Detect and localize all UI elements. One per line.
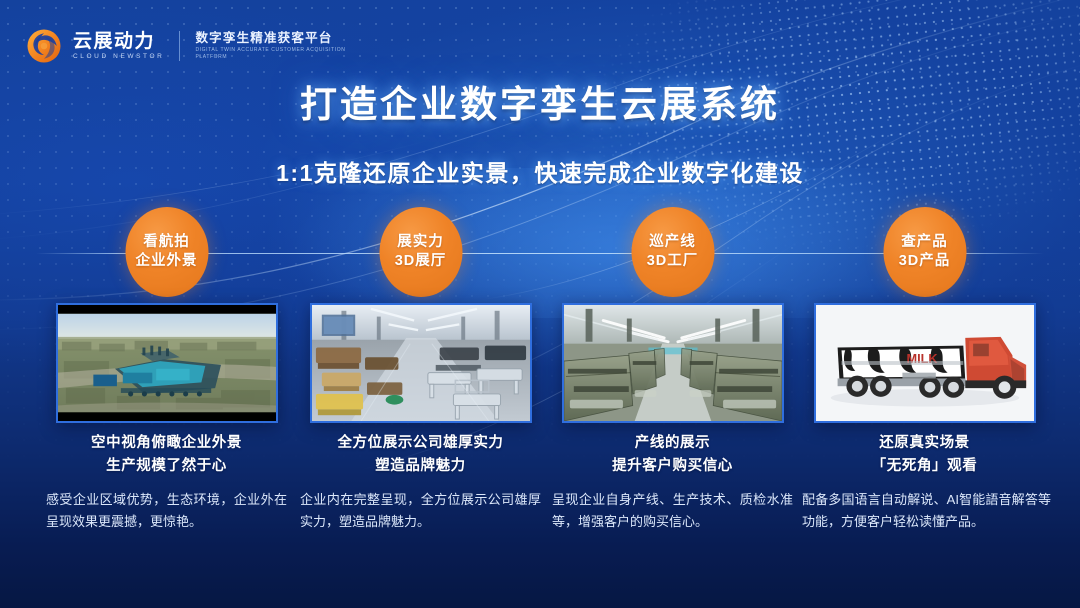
- tagline-en-line1: DIGITAL TWIN ACCURATE CUSTOMER ACQUISITI…: [195, 48, 345, 53]
- production-line-image: [564, 305, 782, 421]
- badge-line-2: 3D工厂: [647, 254, 699, 269]
- aerial-factory-image: [58, 305, 276, 421]
- brand-wordmark: 云展动力 CLOUD NEWSTOR: [73, 32, 164, 61]
- headline-line-1: 全方位展示公司雄厚实力: [294, 432, 547, 455]
- column-body-production-line: 呈现企业自身产线、生产技术、质检水准等，增强客户的购买信心。: [552, 489, 793, 534]
- tagline-cn: 数字孪生精准获客平台: [195, 32, 345, 45]
- thumbnail-furniture-showroom[interactable]: [310, 303, 532, 423]
- brand-name-cn: 云展动力: [73, 32, 164, 51]
- thumbnail-aerial-factory[interactable]: [56, 303, 278, 423]
- column-body-showroom: 企业内在完整呈现，全方位展示公司雄厚实力，塑造品牌魅力。: [300, 489, 541, 534]
- badge-aerial[interactable]: 看航拍 企业外景: [125, 207, 208, 297]
- brand-tagline: 数字孪生精准获客平台 DIGITAL TWIN ACCURATE CUSTOME…: [195, 32, 345, 61]
- milk-truck-product-image: MILK: [816, 305, 1034, 421]
- column-headline-showroom: 全方位展示公司雄厚实力 塑造品牌魅力: [294, 432, 547, 479]
- badge-showroom[interactable]: 展实力 3D展厅: [379, 207, 462, 297]
- column-headline-aerial: 空中视角俯瞰企业外景 生产规模了然于心: [40, 432, 293, 479]
- thumbnail-product-truck[interactable]: MILK: [814, 303, 1036, 423]
- headline-line-2: 塑造品牌魅力: [294, 455, 547, 478]
- headline-line-1: 空中视角俯瞰企业外景: [40, 432, 293, 455]
- badge-line-2: 3D产品: [899, 254, 951, 269]
- column-body-aerial: 感受企业区域优势，生态环境，企业外在呈现效果更震撼，更惊艳。: [46, 489, 287, 534]
- page-title: 打造企业数字孪生云展系统: [0, 74, 1080, 128]
- badge-line-1: 查产品: [901, 235, 948, 250]
- page-title-reflection: 打造企业数字孪生云展系统: [0, 122, 1080, 129]
- badge-line-1: 巡产线: [649, 235, 696, 250]
- page-subtitle: 1:1克隆还原企业实景，快速完成企业数字化建设: [0, 154, 1080, 188]
- headline-line-2: 「无死角」观看: [798, 455, 1051, 478]
- column-headline-product: 还原真实场景 「无死角」观看: [798, 432, 1051, 479]
- column-headline-production-line: 产线的展示 提升客户购买信心: [546, 432, 799, 479]
- thumbnail-textile-factory[interactable]: [562, 303, 784, 423]
- headline-line-1: 产线的展示: [546, 432, 799, 455]
- badge-line-2: 3D展厅: [395, 254, 447, 269]
- brand-name-en: CLOUD NEWSTOR: [73, 54, 164, 61]
- logo-divider: [179, 31, 180, 61]
- showroom-interior-image: [312, 305, 530, 421]
- column-body-product: 配备多国语言自动解说、AI智能語音解答等功能，方便客户轻松读懂产品。: [802, 489, 1051, 534]
- brand-logo-bar: 云展动力 CLOUD NEWSTOR 数字孪生精准获客平台 DIGITAL TW…: [26, 28, 345, 64]
- headline-line-2: 生产规模了然于心: [40, 455, 293, 478]
- headline-line-1: 还原真实场景: [798, 432, 1051, 455]
- badge-line-2: 企业外景: [136, 254, 198, 269]
- badge-line-1: 展实力: [397, 235, 444, 250]
- headline-line-2: 提升客户购买信心: [546, 455, 799, 478]
- badge-line-1: 看航拍: [143, 235, 190, 250]
- badge-product[interactable]: 查产品 3D产品: [883, 207, 966, 297]
- company-logo-icon: [26, 28, 62, 64]
- tagline-en-line2: PLATFORM: [195, 55, 345, 60]
- title-block: 打造企业数字孪生云展系统 打造企业数字孪生云展系统 1:1克隆还原企业实景，快速…: [0, 74, 1080, 188]
- slide-canvas: 云展动力 CLOUD NEWSTOR 数字孪生精准获客平台 DIGITAL TW…: [0, 0, 1080, 608]
- badge-production-line[interactable]: 巡产线 3D工厂: [631, 207, 714, 297]
